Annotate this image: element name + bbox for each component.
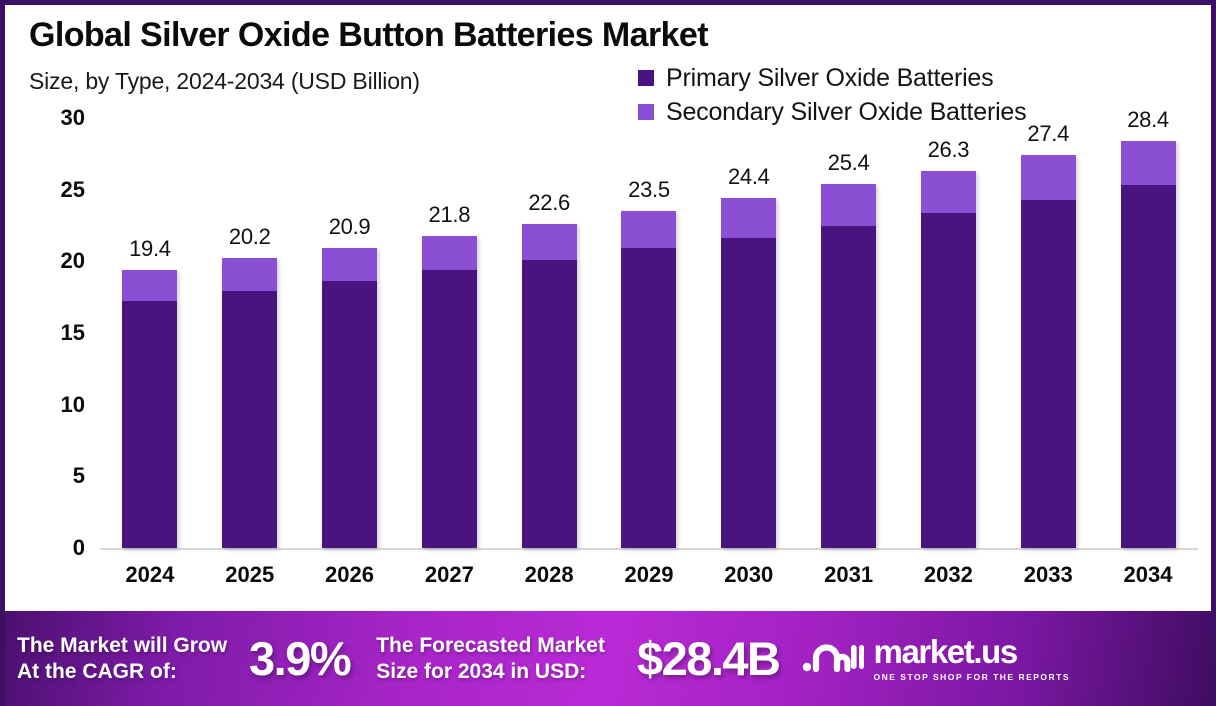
bar-segment-primary[interactable] [522,260,577,548]
bar-group[interactable]: 27.4 [1021,118,1076,548]
bar-segment-primary[interactable] [322,281,377,548]
bar-value-label: 28.4 [1127,107,1169,133]
chart-plot-area: 051015202530 19.420.220.921.822.623.524.… [5,118,1211,610]
x-axis-tick: 2025 [222,562,277,602]
bar-value-label: 27.4 [1027,121,1069,147]
bar-value-label: 24.4 [728,164,770,190]
x-axis-tick: 2029 [621,562,676,602]
bar-segment-primary[interactable] [821,226,876,549]
bar-segment-primary[interactable] [921,213,976,548]
bar-stack[interactable] [1021,155,1076,548]
x-axis-tick: 2031 [821,562,876,602]
bar-stack[interactable] [222,258,277,548]
cagr-caption-line2: At the CAGR of: [17,659,227,685]
bar-value-label: 23.5 [628,177,670,203]
bar-stack[interactable] [621,211,676,548]
cagr-caption-line1: The Market will Grow [17,633,227,659]
y-axis-tick: 10 [23,392,85,418]
logo-tagline: ONE STOP SHOP FOR THE REPORTS [874,672,1071,682]
bar-stack[interactable] [921,171,976,548]
legend-label-primary: Primary Silver Oxide Batteries [666,64,993,93]
chart-header: Global Silver Oxide Button Batteries Mar… [5,5,1211,120]
x-axis-baseline [100,548,1198,550]
y-axis-tick: 0 [23,535,85,561]
bar-segment-primary[interactable] [122,301,177,548]
forecast-value: $28.4B [637,631,780,686]
y-axis-tick: 25 [23,177,85,203]
bar-group[interactable]: 20.2 [222,118,277,548]
bar-segment-secondary[interactable] [522,224,577,260]
bar-segment-secondary[interactable] [721,198,776,238]
bar-stack[interactable] [122,270,177,548]
chart-infographic: Global Silver Oxide Button Batteries Mar… [0,0,1216,706]
y-axis: 051015202530 [23,118,85,610]
forecast-caption-line2: Size for 2034 in USD: [376,659,605,685]
bar-segment-secondary[interactable] [921,171,976,213]
page-title: Global Silver Oxide Button Batteries Mar… [29,16,708,55]
bar-segment-primary[interactable] [222,291,277,548]
y-axis-tick: 15 [23,320,85,346]
bar-stack[interactable] [721,198,776,548]
y-axis-tick: 20 [23,248,85,274]
x-axis-tick: 2026 [322,562,377,602]
bar-segment-secondary[interactable] [122,270,177,302]
bar-stack[interactable] [522,224,577,548]
bar-group[interactable]: 19.4 [122,118,177,548]
bar-stack[interactable] [422,236,477,548]
bar-segment-secondary[interactable] [821,184,876,226]
market-us-logo-icon [802,636,864,681]
bar-group[interactable]: 20.9 [322,118,377,548]
bar-segment-primary[interactable] [721,238,776,548]
market-us-logo[interactable]: market.us ONE STOP SHOP FOR THE REPORTS [802,635,1071,682]
bar-value-label: 20.2 [229,224,271,250]
bar-segment-primary[interactable] [422,270,477,548]
bar-stack[interactable] [1121,141,1176,548]
bar-value-label: 21.8 [429,202,471,228]
x-axis-tick: 2033 [1021,562,1076,602]
x-axis: 2024202520262027202820292030203120322033… [100,562,1198,602]
summary-banner: The Market will Grow At the CAGR of: 3.9… [5,611,1211,706]
bar-value-label: 19.4 [129,236,171,262]
bar-group[interactable]: 22.6 [522,118,577,548]
bar-segment-secondary[interactable] [1021,155,1076,199]
forecast-caption-line1: The Forecasted Market [376,633,605,659]
legend-item-primary: Primary Silver Oxide Batteries [638,61,1108,95]
bar-segment-secondary[interactable] [621,211,676,248]
bar-value-label: 20.9 [329,214,371,240]
y-axis-tick: 30 [23,105,85,131]
bar-segment-primary[interactable] [1121,185,1176,548]
y-axis-tick: 5 [23,463,85,489]
bar-segment-secondary[interactable] [422,236,477,270]
x-axis-tick: 2034 [1121,562,1176,602]
bar-group[interactable]: 24.4 [721,118,776,548]
bar-series-container: 19.420.220.921.822.623.524.425.426.327.4… [100,118,1198,548]
bar-stack[interactable] [322,248,377,548]
bar-value-label: 22.6 [528,190,570,216]
bar-group[interactable]: 23.5 [621,118,676,548]
bar-group[interactable]: 26.3 [921,118,976,548]
market-us-logo-text: market.us ONE STOP SHOP FOR THE REPORTS [874,635,1071,682]
legend-swatch-primary [638,70,654,86]
x-axis-tick: 2024 [122,562,177,602]
x-axis-tick: 2027 [422,562,477,602]
bar-group[interactable]: 25.4 [821,118,876,548]
bar-segment-secondary[interactable] [1121,141,1176,185]
bar-segment-primary[interactable] [621,248,676,548]
x-axis-tick: 2032 [921,562,976,602]
cagr-caption: The Market will Grow At the CAGR of: [17,633,227,684]
cagr-value: 3.9% [249,631,350,686]
bar-stack[interactable] [821,184,876,548]
bar-value-label: 26.3 [928,137,970,163]
bar-segment-secondary[interactable] [322,248,377,281]
x-axis-tick: 2028 [522,562,577,602]
bar-segment-primary[interactable] [1021,200,1076,548]
bar-group[interactable]: 21.8 [422,118,477,548]
forecast-caption: The Forecasted Market Size for 2034 in U… [376,633,605,684]
logo-wordmark: market.us [874,635,1071,668]
x-axis-tick: 2030 [721,562,776,602]
chart-subtitle: Size, by Type, 2024-2034 (USD Billion) [29,68,420,95]
bar-group[interactable]: 28.4 [1121,118,1176,548]
bar-value-label: 25.4 [828,150,870,176]
bar-segment-secondary[interactable] [222,258,277,291]
